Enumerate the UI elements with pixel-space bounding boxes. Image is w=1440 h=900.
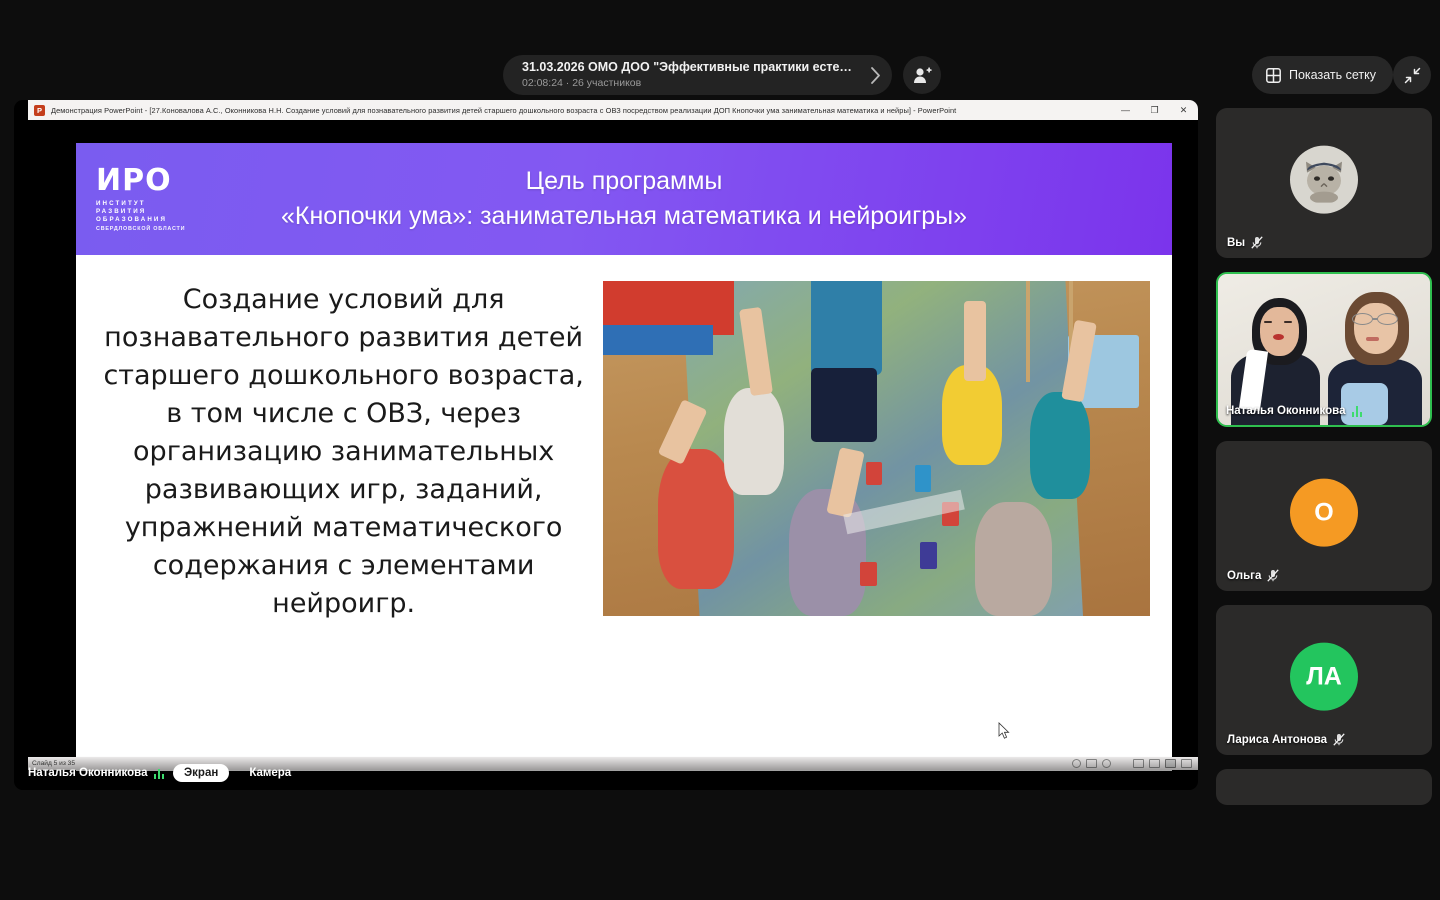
iro-logo: ИРО ИНСТИТУТ РАЗВИТИЯ ОБРАЗОВАНИЯ СВЕРДЛ… xyxy=(96,165,206,233)
participant-label: Вы xyxy=(1227,236,1263,249)
meeting-subtitle: 02:08:24 · 26 участников xyxy=(522,76,858,90)
window-controls: — ❐ ✕ xyxy=(1111,100,1198,120)
collapse-button[interactable] xyxy=(1393,56,1431,94)
chevron-right-icon[interactable] xyxy=(858,67,892,84)
iro-logo-mark: ИРО xyxy=(96,165,206,197)
participants-rail[interactable]: Вы xyxy=(1216,108,1434,805)
iro-line-3: ОБРАЗОВАНИЯ xyxy=(96,216,206,224)
powerpoint-window-title: Демонстрация PowerPoint - [27.Коновалова… xyxy=(51,106,1111,115)
audio-level-icon xyxy=(1352,406,1363,417)
participant-tile-larisa[interactable]: ЛА Лариса Антонова xyxy=(1216,605,1432,755)
presenter-name-overlay: Наталья Оконникова xyxy=(28,767,164,779)
powerpoint-icon: P xyxy=(34,105,45,116)
iro-line-4: СВЕРДЛОВСКОЙ ОБЛАСТИ xyxy=(96,225,206,233)
initials-avatar: О xyxy=(1290,479,1358,547)
collapse-arrows-icon xyxy=(1404,67,1421,84)
show-grid-label: Показать сетку xyxy=(1289,68,1376,82)
avatar-initials: ЛА xyxy=(1306,662,1342,691)
participant-tile-speaking[interactable]: Наталья Оконникова xyxy=(1216,272,1432,427)
slide-body-text: Создание условий для познавательного раз… xyxy=(98,281,589,623)
video-call-app: 31.03.2026 ОМО ДОО "Эффективные практики… xyxy=(0,0,1440,900)
mic-muted-icon xyxy=(1267,569,1279,582)
top-bar: 31.03.2026 ОМО ДОО "Эффективные практики… xyxy=(0,0,1440,100)
participant-label: Наталья Оконникова xyxy=(1226,405,1362,417)
participant-name: Наталья Оконникова xyxy=(1226,405,1346,417)
meeting-info-pill[interactable]: 31.03.2026 ОМО ДОО "Эффективные практики… xyxy=(503,55,892,95)
participant-tile-you[interactable]: Вы xyxy=(1216,108,1432,258)
minimize-button[interactable]: — xyxy=(1111,100,1140,120)
close-button[interactable]: ✕ xyxy=(1169,100,1198,120)
participant-label: Лариса Антонова xyxy=(1227,733,1345,746)
mic-muted-icon xyxy=(1333,733,1345,746)
avatar-initials: О xyxy=(1314,498,1333,527)
iro-line-1: ИНСТИТУТ xyxy=(96,200,206,208)
participant-video-feed xyxy=(1218,274,1430,425)
slide-canvas: ИРО ИНСТИТУТ РАЗВИТИЯ ОБРАЗОВАНИЯ СВЕРДЛ… xyxy=(76,143,1172,771)
add-person-button[interactable] xyxy=(903,56,941,94)
slide-body: Создание условий для познавательного раз… xyxy=(76,255,1172,623)
mouse-cursor xyxy=(998,722,1010,740)
iro-logo-lines: ИНСТИТУТ РАЗВИТИЯ ОБРАЗОВАНИЯ СВЕРДЛОВСК… xyxy=(96,200,206,233)
initials-avatar: ЛА xyxy=(1290,643,1358,711)
camera-tab-pill[interactable]: Камера xyxy=(238,764,302,782)
add-person-icon xyxy=(913,67,932,84)
screen-tab-pill[interactable]: Экран xyxy=(173,764,229,782)
show-grid-button[interactable]: Показать сетку xyxy=(1252,56,1393,94)
slide-title-line2: «Кнопочки ума»: занимательная математика… xyxy=(281,198,967,234)
cat-avatar-icon xyxy=(1298,157,1350,203)
mic-muted-icon xyxy=(1251,236,1263,249)
participant-label: Ольга xyxy=(1227,569,1279,582)
slide-title-line1: Цель программы xyxy=(281,165,967,198)
presenter-name-label: Наталья Оконникова xyxy=(28,767,148,779)
meeting-title: 31.03.2026 ОМО ДОО "Эффективные практики… xyxy=(522,60,858,75)
grid-icon xyxy=(1266,68,1281,83)
participant-name: Ольга xyxy=(1227,570,1261,582)
meeting-info-text: 31.03.2026 ОМО ДОО "Эффективные практики… xyxy=(503,60,858,90)
powerpoint-title-bar: P Демонстрация PowerPoint - [27.Коновало… xyxy=(28,100,1198,120)
slide-photo-children xyxy=(603,281,1150,616)
cat-avatar xyxy=(1290,146,1358,214)
participant-tile-olga[interactable]: О Ольга xyxy=(1216,441,1432,591)
shared-screen-area[interactable]: P Демонстрация PowerPoint - [27.Коновало… xyxy=(14,100,1198,790)
audio-level-icon xyxy=(154,768,165,779)
participant-name: Вы xyxy=(1227,237,1245,249)
restore-button[interactable]: ❐ xyxy=(1140,100,1169,120)
slide-title: Цель программы «Кнопочки ума»: занимател… xyxy=(281,165,967,234)
participant-tile-partial[interactable] xyxy=(1216,769,1432,805)
iro-line-2: РАЗВИТИЯ xyxy=(96,208,206,216)
presenter-overlay-bar: Наталья Оконникова Экран Камера xyxy=(14,756,1198,790)
slide-header: ИРО ИНСТИТУТ РАЗВИТИЯ ОБРАЗОВАНИЯ СВЕРДЛ… xyxy=(76,143,1172,255)
participant-name: Лариса Антонова xyxy=(1227,734,1327,746)
